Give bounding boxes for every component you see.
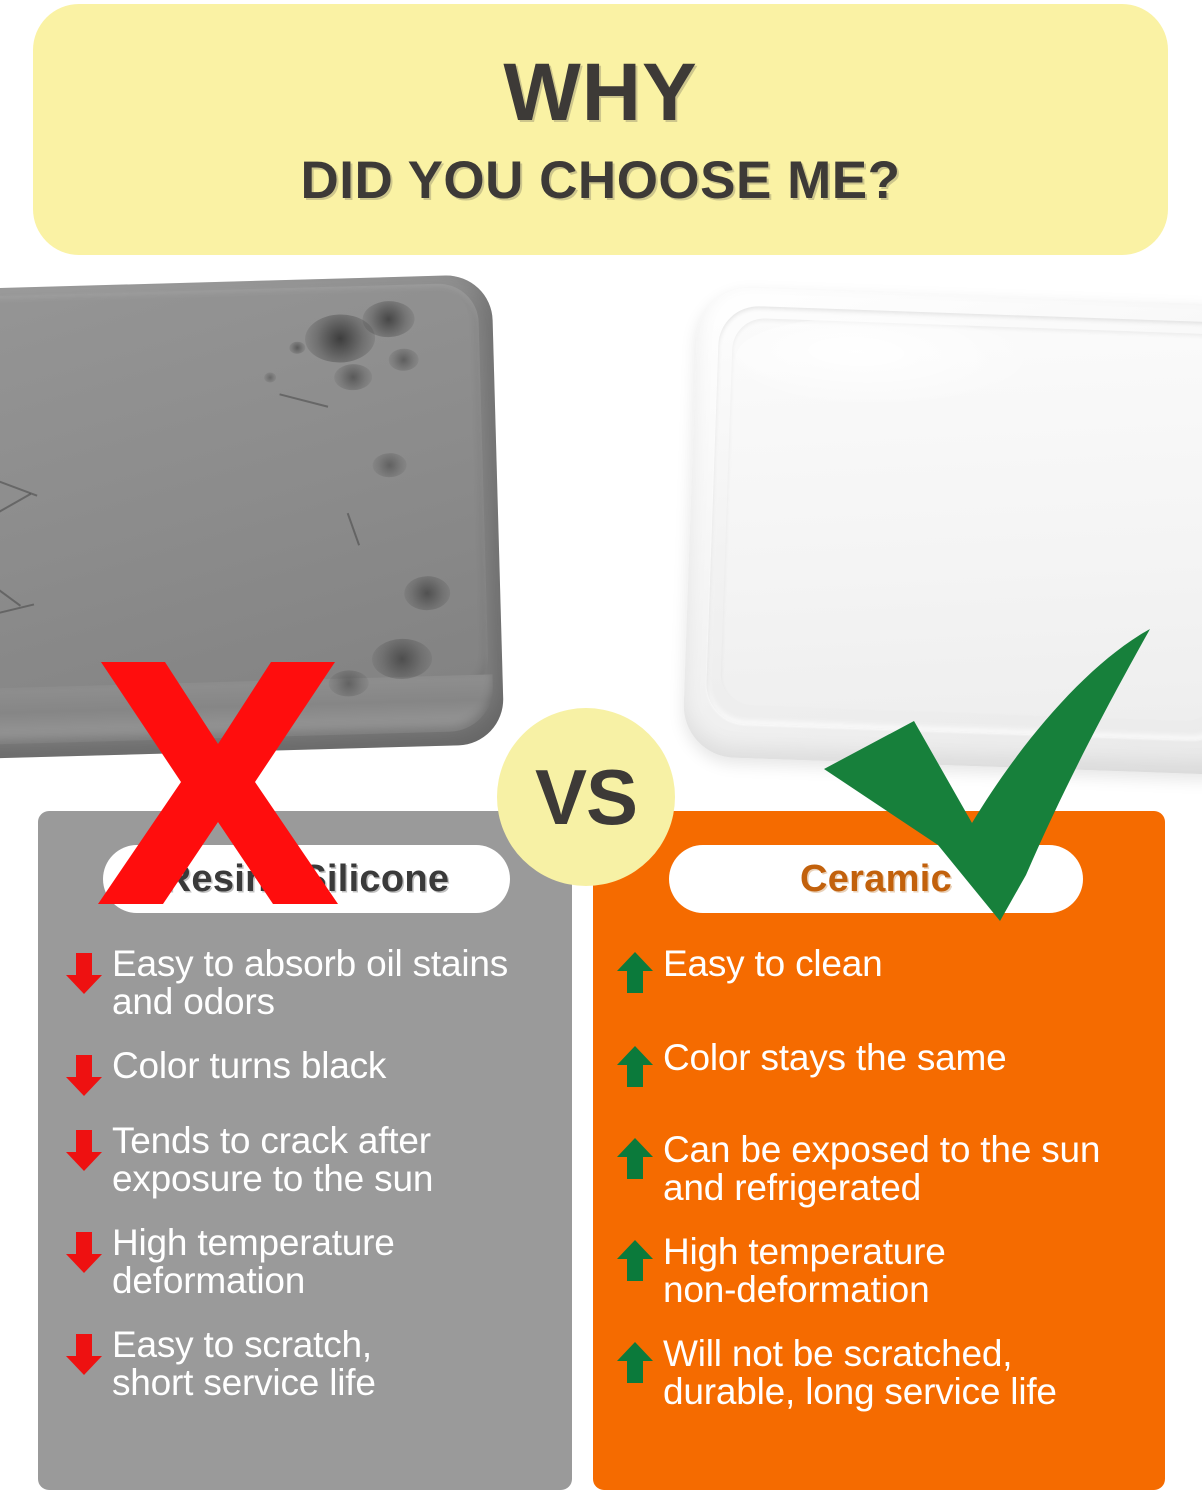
green-check-icon	[820, 623, 1175, 933]
page-title-line1: WHY	[503, 52, 697, 134]
list-item-label: Tends to crack after exposure to the sun	[112, 1122, 433, 1199]
list-item-label: Color stays the same	[663, 1039, 1007, 1077]
list-item-label: Will not be scratched, durable, long ser…	[663, 1335, 1057, 1412]
product-comparison-visual: VS	[0, 268, 1202, 798]
red-x-icon	[95, 658, 341, 908]
list-item: Easy to clean	[615, 945, 1151, 995]
list-item-label: Easy to scratch, short service life	[112, 1326, 376, 1403]
list-item: High temperature deformation	[64, 1224, 558, 1301]
panel-resin-silicone: Resin / Silicone Easy to absorb oil stai…	[38, 811, 572, 1490]
header-banner: WHY DID YOU CHOOSE ME?	[33, 4, 1168, 255]
feature-list-ceramic: Easy to clean Color stays the same Can b…	[615, 945, 1151, 1437]
list-item: Color turns black	[64, 1047, 558, 1097]
list-item-label: Easy to absorb oil stains and odors	[112, 945, 508, 1022]
vs-label: VS	[535, 758, 637, 836]
list-item: Can be exposed to the sun and refrigerat…	[615, 1131, 1151, 1208]
page-title-line2: DID YOU CHOOSE ME?	[301, 154, 901, 207]
vs-badge: VS	[497, 708, 675, 886]
down-arrow-icon	[64, 1230, 104, 1274]
list-item-label: High temperature deformation	[112, 1224, 395, 1301]
list-item-label: High temperature non-deformation	[663, 1233, 946, 1310]
list-item-label: Color turns black	[112, 1047, 386, 1085]
list-item: Color stays the same	[615, 1039, 1151, 1089]
down-arrow-icon	[64, 1128, 104, 1172]
up-arrow-icon	[615, 951, 655, 995]
up-arrow-icon	[615, 1341, 655, 1385]
feature-list-resin: Easy to absorb oil stains and odors Colo…	[64, 945, 558, 1428]
down-arrow-icon	[64, 951, 104, 995]
list-item: High temperature non-deformation	[615, 1233, 1151, 1310]
up-arrow-icon	[615, 1239, 655, 1283]
down-arrow-icon	[64, 1053, 104, 1097]
list-item-label: Easy to clean	[663, 945, 883, 983]
up-arrow-icon	[615, 1137, 655, 1181]
up-arrow-icon	[615, 1045, 655, 1089]
list-item-label: Can be exposed to the sun and refrigerat…	[663, 1131, 1100, 1208]
list-item: Will not be scratched, durable, long ser…	[615, 1335, 1151, 1412]
list-item: Easy to absorb oil stains and odors	[64, 945, 558, 1022]
down-arrow-icon	[64, 1332, 104, 1376]
list-item: Tends to crack after exposure to the sun	[64, 1122, 558, 1199]
resin-tray-rim	[0, 283, 489, 712]
list-item: Easy to scratch, short service life	[64, 1326, 558, 1403]
